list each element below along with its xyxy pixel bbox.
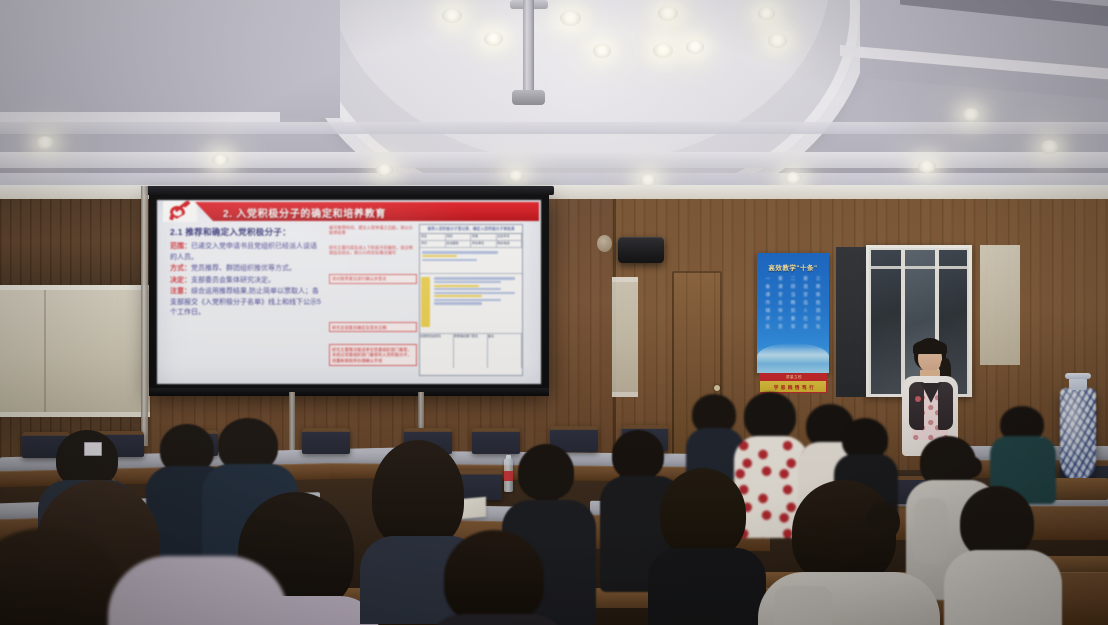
presenter-vest-right (938, 382, 953, 430)
poster-char: 透 (800, 284, 812, 290)
hammer-sickle-icon (169, 204, 191, 220)
form-cell: 联系电话 (497, 241, 523, 248)
torso (648, 548, 766, 625)
porcelain-vase (1060, 388, 1096, 480)
chair[interactable] (302, 428, 350, 454)
wall-cream-panel-left (0, 285, 158, 417)
form-line (434, 302, 482, 304)
hair-bun (866, 502, 900, 542)
hair (612, 430, 664, 480)
arm (774, 586, 832, 625)
form-line-highlight (434, 285, 479, 287)
form-side-highlight (421, 277, 430, 327)
meeting-room-photo: 高效教学"十条" 一 要 二 要 三 备 课 研 透 教 课 堂 当 堂 练 作… (0, 0, 1108, 625)
poster-char: 研 (787, 284, 799, 290)
wall-speaker (618, 237, 664, 263)
presentation-slide: 2. 入党积极分子的确定和培养教育 2.1 推荐和确定入党积极分子： 范围：已递… (157, 200, 541, 384)
poster-char: 作 (762, 300, 774, 306)
screen-support-pole-left (141, 186, 148, 446)
slide-bullet-text: 党员推荐、群团组织推优等方式。 (191, 265, 296, 272)
form-cell: 民族 (471, 234, 497, 241)
water-bottle[interactable] (504, 458, 513, 492)
form-line (434, 277, 515, 279)
form-line (434, 299, 501, 301)
torso (944, 550, 1062, 625)
slide-bullet-text: 支部委员会集体研究决定。 (191, 277, 275, 284)
poster-char: 练 (812, 292, 824, 298)
poster-character-grid: 一 要 二 要 三 备 课 研 透 教 课 堂 当 堂 练 作 业 精 选 批 (762, 276, 824, 330)
slide-bullet-row: 注意：综合运用推荐结果,防止简单以票取人；各支部报交《入党积极分子名单》线上和线… (170, 287, 322, 319)
chair[interactable] (472, 428, 520, 454)
form-cell: 姓名 (420, 234, 446, 241)
slide-bullet-row: 决定：支部委员会集体研究决定。 (170, 276, 322, 287)
sickle-handle-icon (169, 213, 175, 220)
poster-char: 人 (800, 308, 812, 314)
slide-bullet-text: 综合运用推荐结果,防止简单以票取人；各支部报交《入党积极分子名单》线上和线下公示… (170, 288, 321, 316)
wall-sensor-icon (597, 235, 612, 252)
slide-form-image: 推荐入党积极分子登记表、确定入党积极分子审批表 姓名 性别 民族 出生年月 学历… (419, 224, 523, 376)
screen-bottom-bar (149, 388, 549, 396)
arm (914, 498, 948, 564)
form-title: 推荐入党积极分子登记表、确定入党积极分子审批表 (420, 225, 522, 234)
door-knob-icon[interactable] (714, 385, 720, 391)
poster-char: 到 (787, 308, 799, 314)
wall-cream-right (980, 245, 1020, 365)
hair (660, 468, 746, 560)
slide-annotation: 研究支部委员确定及签名日期 (329, 322, 417, 332)
form-line (422, 251, 498, 253)
presenter-vest-left (909, 382, 924, 430)
poster-char: 堂 (775, 292, 787, 298)
slide-subtitle: 2.1 推荐和确定入党积极分子： (170, 226, 322, 238)
form-block (420, 248, 522, 274)
poster-char: 要 (800, 276, 812, 282)
ceiling (0, 0, 1108, 205)
ceiling-band-1 (0, 152, 1108, 168)
form-cell: 性别 (446, 234, 472, 241)
window-side-panel (836, 247, 866, 397)
downlight-icon (918, 160, 936, 173)
poster-banner-text: 学 思 践 悟 笃 行 (774, 385, 815, 391)
poster-char: 常 (787, 324, 799, 330)
downlight-icon (376, 164, 393, 176)
presenter-badge (915, 396, 921, 402)
poster-char: 精 (787, 300, 799, 306)
hair-clip (84, 442, 102, 456)
form-cell: 党委组织部门意见 (454, 334, 488, 368)
poster-char: 业 (775, 300, 787, 306)
poster-char: 导 (775, 308, 787, 314)
form-line (434, 281, 501, 283)
poster-char: 改 (812, 316, 824, 322)
slide-bullet-row: 方式：党员推荐、群团组织推优等方式。 (170, 264, 322, 275)
hair (960, 486, 1034, 560)
downlight-icon (508, 170, 524, 182)
slide-bullet-text: 已递交入党申请书且党组织已经派人谈话的人员。 (170, 243, 317, 261)
downlight-icon (785, 172, 801, 184)
poster-char: 思 (775, 324, 787, 330)
bottle-label (504, 471, 513, 481)
downlight-icon (36, 136, 54, 149)
downlight-icon (484, 32, 503, 46)
poster-char: 三 (812, 276, 824, 282)
form-cell: 所在单位 (471, 241, 497, 248)
wall-cream-strip (612, 277, 638, 397)
downlight-icon (1040, 140, 1059, 154)
slide-left-column: 2.1 推荐和确定入党积极分子： 范围：已递交入党申请书且党组织已经派人谈话的人… (170, 226, 322, 320)
window-transom (871, 266, 967, 269)
poster-char: 课 (775, 284, 787, 290)
poster-char: 评 (762, 316, 774, 322)
poster-char: 堂 (800, 292, 812, 298)
hair (444, 530, 544, 624)
party-emblem-icon (163, 201, 197, 222)
downlight-icon (658, 6, 678, 21)
form-footer-row: 支部委员会意见 党委组织部门意见 备注 (420, 334, 522, 368)
poster-char: 反 (762, 324, 774, 330)
poster-char: 态 (800, 324, 812, 330)
slide-bullet-row: 范围：已递交入党申请书且党组织已经派人谈话的人员。 (170, 242, 322, 263)
poster-wave-graphic (757, 343, 829, 363)
form-cell: 出生年月 (497, 234, 523, 241)
form-cell: 学历 (420, 241, 446, 248)
long-hair (372, 440, 464, 550)
ceiling-slab-left-edge (0, 112, 280, 122)
poster-char: 到 (812, 308, 824, 314)
slide-annotations: 填写推荐时间、提交入党申请之日起，须公示推荐结果 研究主要内容及进入下阶段不同意… (329, 225, 417, 375)
wall-poster: 高效教学"十条" 一 要 二 要 三 备 课 研 透 教 课 堂 当 堂 练 作… (757, 253, 829, 373)
form-line (422, 259, 477, 261)
form-cell: 支部委员会意见 (420, 334, 454, 368)
downlight-icon (560, 10, 581, 26)
slide-header-banner: 2. 入党积极分子的确定和培养教育 (195, 202, 539, 221)
form-line-highlight (422, 255, 457, 257)
downlight-icon (593, 44, 611, 58)
poster-char: 二 (787, 276, 799, 282)
downlight-icon (212, 154, 229, 166)
downlight-icon (442, 8, 462, 23)
wall-upper-wood-left (0, 199, 155, 285)
slide-bullet-key: 决定： (170, 277, 191, 284)
slide-bullet-key: 方式： (170, 265, 191, 272)
downlight-icon (758, 7, 775, 20)
downlight-icon (686, 40, 704, 54)
panel-seam (44, 290, 46, 412)
hair-bun (960, 456, 982, 478)
poster-char: 辅 (762, 308, 774, 314)
poster-char: 重 (787, 316, 799, 322)
slide-title: 2. 入党积极分子的确定和培养教育 (223, 205, 386, 220)
vase-lip (1065, 373, 1091, 379)
slide-bullet-key: 范围： (170, 243, 191, 250)
form-block (420, 274, 522, 334)
form-cell: 备注 (488, 334, 522, 368)
projector-mount-pole (523, 0, 534, 96)
poster-char: 化 (812, 324, 824, 330)
slide-annotation: 研究主要情况报送单位党委组织部门备案，未经过党委组织部门备案的入党积极分子，须重… (329, 344, 417, 365)
form-line (434, 288, 501, 290)
screen-support-pole-mid (289, 392, 295, 452)
slide-annotation: 须对推荐意见进行确认并签名 (329, 274, 417, 284)
downlight-icon (768, 33, 787, 48)
hammer-head-icon (183, 200, 191, 207)
poster-char: 教 (812, 284, 824, 290)
poster-char: 选 (800, 300, 812, 306)
poster-char: 在 (800, 316, 812, 322)
slide-annotation: 研究主要内容及进入下阶段不同意的，须注明理由及结论，按公示的实际情况填写 (329, 245, 417, 256)
slide-header: 2. 入党积极分子的确定和培养教育 (157, 200, 541, 223)
poster-char: 批 (812, 300, 824, 306)
form-line-highlight (434, 295, 482, 297)
downlight-icon (653, 43, 673, 58)
poster-char: 价 (775, 316, 787, 322)
form-cell: 政治面貌 (446, 241, 472, 248)
poster-char: 备 (762, 284, 774, 290)
poster-char: 要 (775, 276, 787, 282)
form-line (434, 292, 515, 294)
hair (744, 392, 796, 440)
presenter-hair-top (913, 340, 947, 354)
poster-banner: 质量立校 学 思 践 悟 笃 行 (759, 373, 827, 393)
slide-bullet-key: 注意： (170, 288, 191, 295)
slide-annotation: 填写推荐时间、提交入党申请之日起，须公示推荐结果 (329, 225, 417, 236)
poster-char: 当 (787, 292, 799, 298)
screen-top-casing (144, 186, 554, 195)
poster-title: 高效教学"十条" (757, 262, 829, 272)
bottle-cap (506, 455, 511, 459)
projector-head (512, 90, 545, 105)
poster-banner-top-text: 质量立校 (786, 375, 802, 380)
form-header-row: 姓名 性别 民族 出生年月 学历 政治面貌 所在单位 联系电话 (420, 234, 522, 248)
projection-screen: 2. 入党积极分子的确定和培养教育 2.1 推荐和确定入党积极分子： 范围：已递… (149, 193, 549, 393)
downlight-icon (962, 108, 980, 121)
poster-char: 课 (762, 292, 774, 298)
lavender-hoodie-torso (108, 556, 288, 625)
ceiling-band-3 (0, 122, 1108, 134)
ceiling-slab-left (0, 0, 340, 118)
poster-char: 一 (762, 276, 774, 282)
